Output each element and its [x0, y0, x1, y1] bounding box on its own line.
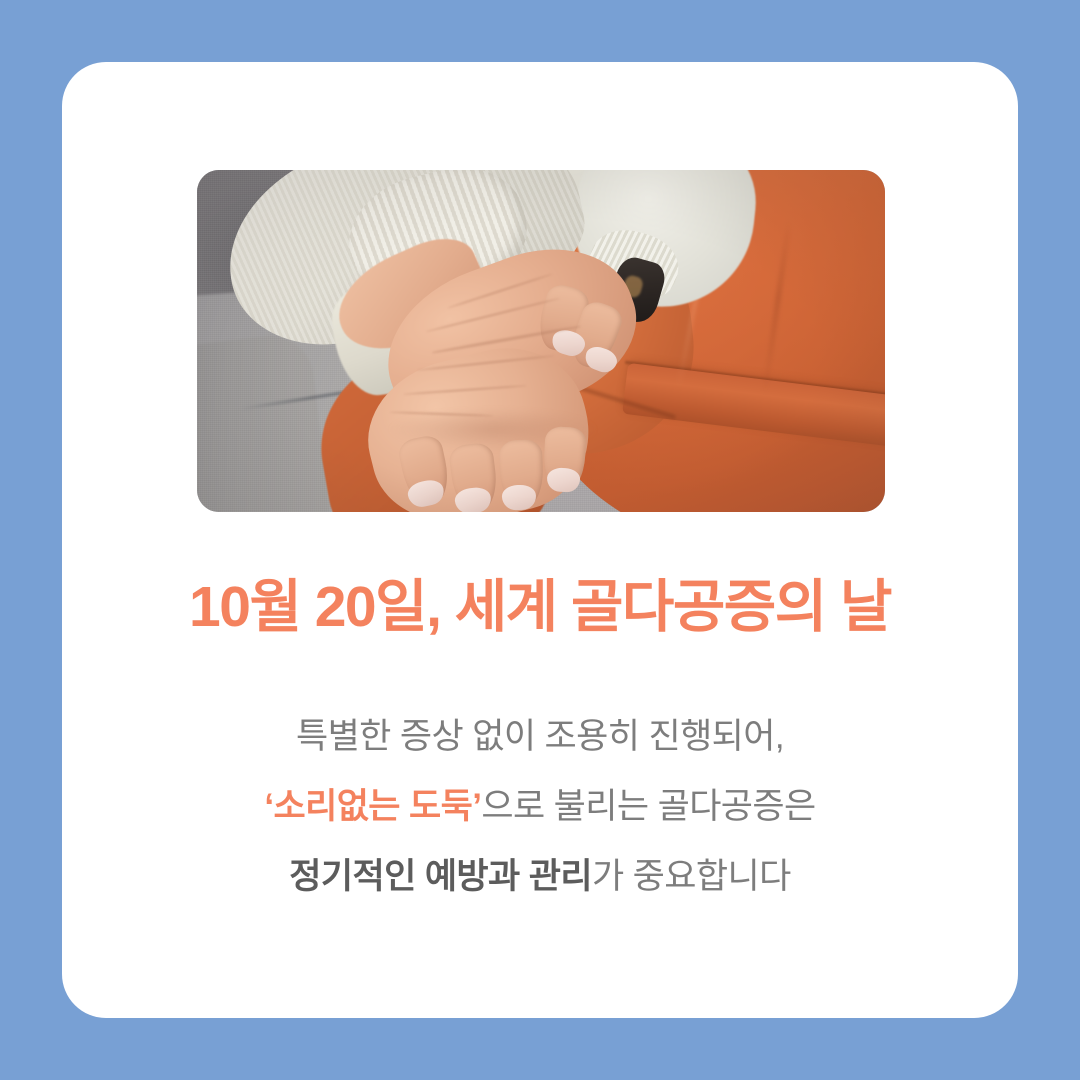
body-line-3-rest: 가 중요합니다: [592, 857, 791, 896]
body-line-2: ‘소리없는 도둑’으로 불리는 골다공증은: [62, 772, 1018, 842]
page-title: 10월 20일, 세계 골다공증의 날: [62, 574, 1018, 641]
body-line-3: 정기적인 예방과 관리가 중요합니다: [62, 842, 1018, 912]
photo-image: [197, 170, 885, 512]
photo-vignette: [197, 170, 885, 512]
body-copy: 특별한 증상 없이 조용히 진행되어, ‘소리없는 도둑’으로 불리는 골다공증…: [62, 702, 1018, 912]
body-line-1: 특별한 증상 없이 조용히 진행되어,: [62, 702, 1018, 772]
body-line-2-rest: 으로 불리는 골다공증은: [481, 787, 815, 826]
hero-photo: [197, 170, 885, 512]
poster-canvas: 10월 20일, 세계 골다공증의 날 특별한 증상 없이 조용히 진행되어, …: [0, 0, 1080, 1080]
highlight-phrase: ‘소리없는 도둑’: [264, 787, 481, 826]
emphasis-phrase: 정기적인 예방과 관리: [289, 857, 592, 896]
content-card: 10월 20일, 세계 골다공증의 날 특별한 증상 없이 조용히 진행되어, …: [62, 62, 1018, 1018]
